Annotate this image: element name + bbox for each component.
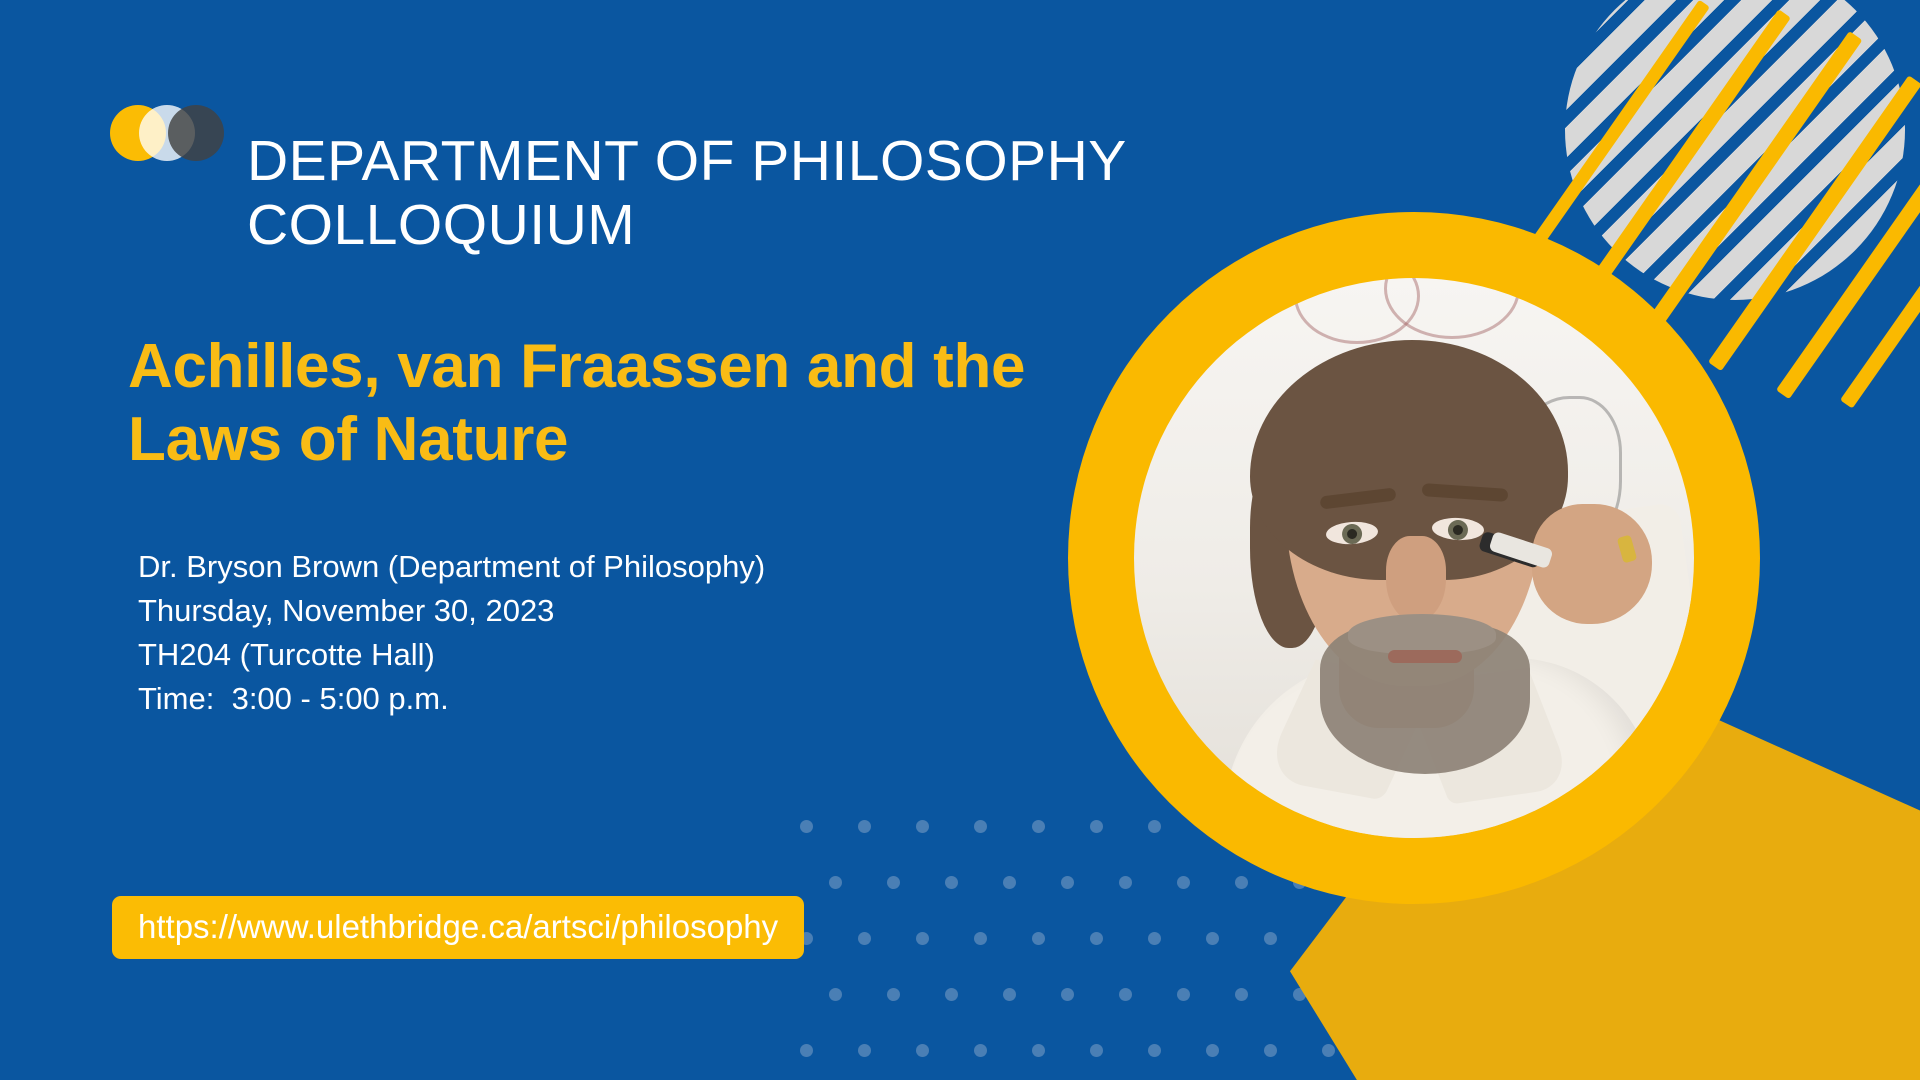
decorative-dot	[858, 1044, 871, 1057]
decorative-dot	[974, 1044, 987, 1057]
decorative-dot	[887, 876, 900, 889]
talk-title: Achilles, van Fraassen and the Laws of N…	[128, 330, 1078, 476]
speaker-portrait-photo	[1134, 278, 1694, 838]
decorative-dot	[829, 876, 842, 889]
decorative-dot	[1148, 932, 1161, 945]
decorative-dot	[1206, 1044, 1219, 1057]
decorative-dot	[1177, 988, 1190, 1001]
decorative-dot	[916, 1044, 929, 1057]
decorative-dot	[974, 932, 987, 945]
portrait-illustration	[1134, 278, 1694, 838]
striped-circle-shape	[1565, 0, 1905, 300]
detail-speaker: Dr. Bryson Brown (Department of Philosop…	[138, 545, 765, 589]
decorative-dot	[1003, 876, 1016, 889]
decorative-dot	[1032, 932, 1045, 945]
decorative-dot	[1235, 876, 1248, 889]
website-url-link[interactable]: https://www.ulethbridge.ca/artsci/philos…	[112, 896, 804, 959]
decorative-dot	[1206, 932, 1219, 945]
decorative-dot	[916, 932, 929, 945]
speaker-moustache	[1348, 614, 1496, 654]
decorative-dot	[858, 932, 871, 945]
university-logo	[110, 105, 230, 161]
speaker-hand	[1532, 504, 1652, 624]
decorative-dot	[1119, 876, 1132, 889]
decorative-dot	[1090, 1044, 1103, 1057]
striped-circle-decoration	[1565, 0, 1920, 300]
detail-time: Time: 3:00 - 5:00 p.m.	[138, 677, 765, 721]
detail-location: TH204 (Turcotte Hall)	[138, 633, 765, 677]
decorative-dot	[1264, 932, 1277, 945]
page-title: DEPARTMENT OF PHILOSOPHY COLLOQUIUM	[247, 130, 1247, 258]
logo-circle-gray	[168, 105, 224, 161]
decorative-dot	[858, 820, 871, 833]
decorative-dot	[945, 988, 958, 1001]
decorative-dot	[1061, 988, 1074, 1001]
decorative-dot	[1264, 1044, 1277, 1057]
decorative-dot	[1090, 932, 1103, 945]
decorative-dot	[1148, 1044, 1161, 1057]
decorative-dot	[887, 988, 900, 1001]
decorative-dot	[1061, 876, 1074, 889]
speaker-nose	[1386, 536, 1446, 622]
decorative-dot	[1090, 820, 1103, 833]
speaker-mouth	[1388, 650, 1462, 663]
detail-date: Thursday, November 30, 2023	[138, 589, 765, 633]
decorative-dot	[1032, 1044, 1045, 1057]
event-details: Dr. Bryson Brown (Department of Philosop…	[138, 545, 765, 721]
decorative-dot	[916, 820, 929, 833]
decorative-dot	[974, 820, 987, 833]
decorative-dot	[1119, 988, 1132, 1001]
decorative-dot	[800, 1044, 813, 1057]
decorative-dot	[800, 820, 813, 833]
decorative-dot	[1235, 988, 1248, 1001]
decorative-dot	[829, 988, 842, 1001]
decorative-dot	[1032, 820, 1045, 833]
decorative-dot	[945, 876, 958, 889]
decorative-dot	[1003, 988, 1016, 1001]
decorative-dot	[1177, 876, 1190, 889]
poster-canvas: DEPARTMENT OF PHILOSOPHY COLLOQUIUM Achi…	[0, 0, 1920, 1080]
decorative-dot	[1322, 1044, 1335, 1057]
